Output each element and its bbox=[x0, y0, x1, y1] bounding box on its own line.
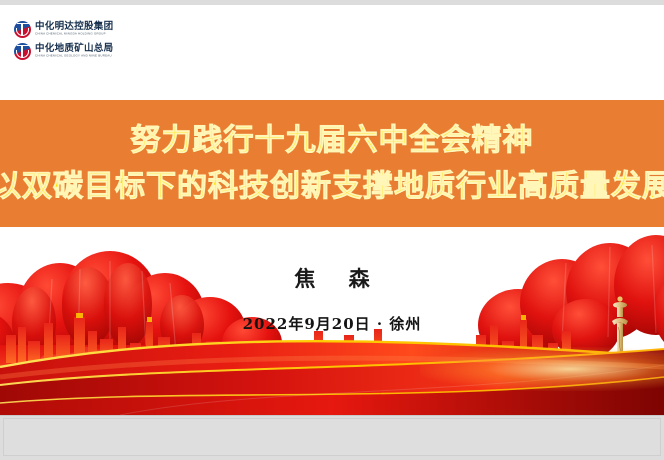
logo-name-en: CHINA CHEMICAL GEOLOGY AND MINE BUREAU bbox=[35, 54, 113, 58]
slide-title-line-1: 努力践行十九届六中全会精神 bbox=[131, 121, 534, 161]
slide-canvas: 中化明达控股集团 CHINA CHEMICAL MINGDA HOLDING G… bbox=[0, 5, 664, 415]
logo-name-en: CHINA CHEMICAL MINGDA HOLDING GROUP bbox=[35, 32, 113, 36]
presenter-name: 焦 森 bbox=[0, 263, 664, 293]
logo-name-cn: 中化明达控股集团 bbox=[35, 22, 113, 32]
logo-item: 中化地质矿山总局 CHINA CHEMICAL GEOLOGY AND MINE… bbox=[14, 41, 129, 61]
slide-title-line-2: 以双碳目标下的科技创新支撑地质行业高质量发展 bbox=[0, 167, 664, 207]
logo-name-cn: 中化地质矿山总局 bbox=[35, 44, 113, 54]
company-emblem-icon bbox=[14, 43, 31, 60]
company-emblem-icon bbox=[14, 21, 31, 38]
date-and-location: 2022年9月20日 · 徐州 bbox=[0, 313, 664, 334]
logo-item: 中化明达控股集团 CHINA CHEMICAL MINGDA HOLDING G… bbox=[14, 19, 129, 39]
organization-logos: 中化明达控股集团 CHINA CHEMICAL MINGDA HOLDING G… bbox=[14, 19, 129, 63]
slide-artwork-stage: 焦 森 2022年9月20日 · 徐州 bbox=[0, 227, 664, 415]
title-band: 努力践行十九届六中全会精神 以双碳目标下的科技创新支撑地质行业高质量发展 bbox=[0, 100, 664, 227]
viewer-notes-pane[interactable] bbox=[3, 418, 661, 456]
presentation-viewer: 中化明达控股集团 CHINA CHEMICAL MINGDA HOLDING G… bbox=[0, 0, 664, 460]
